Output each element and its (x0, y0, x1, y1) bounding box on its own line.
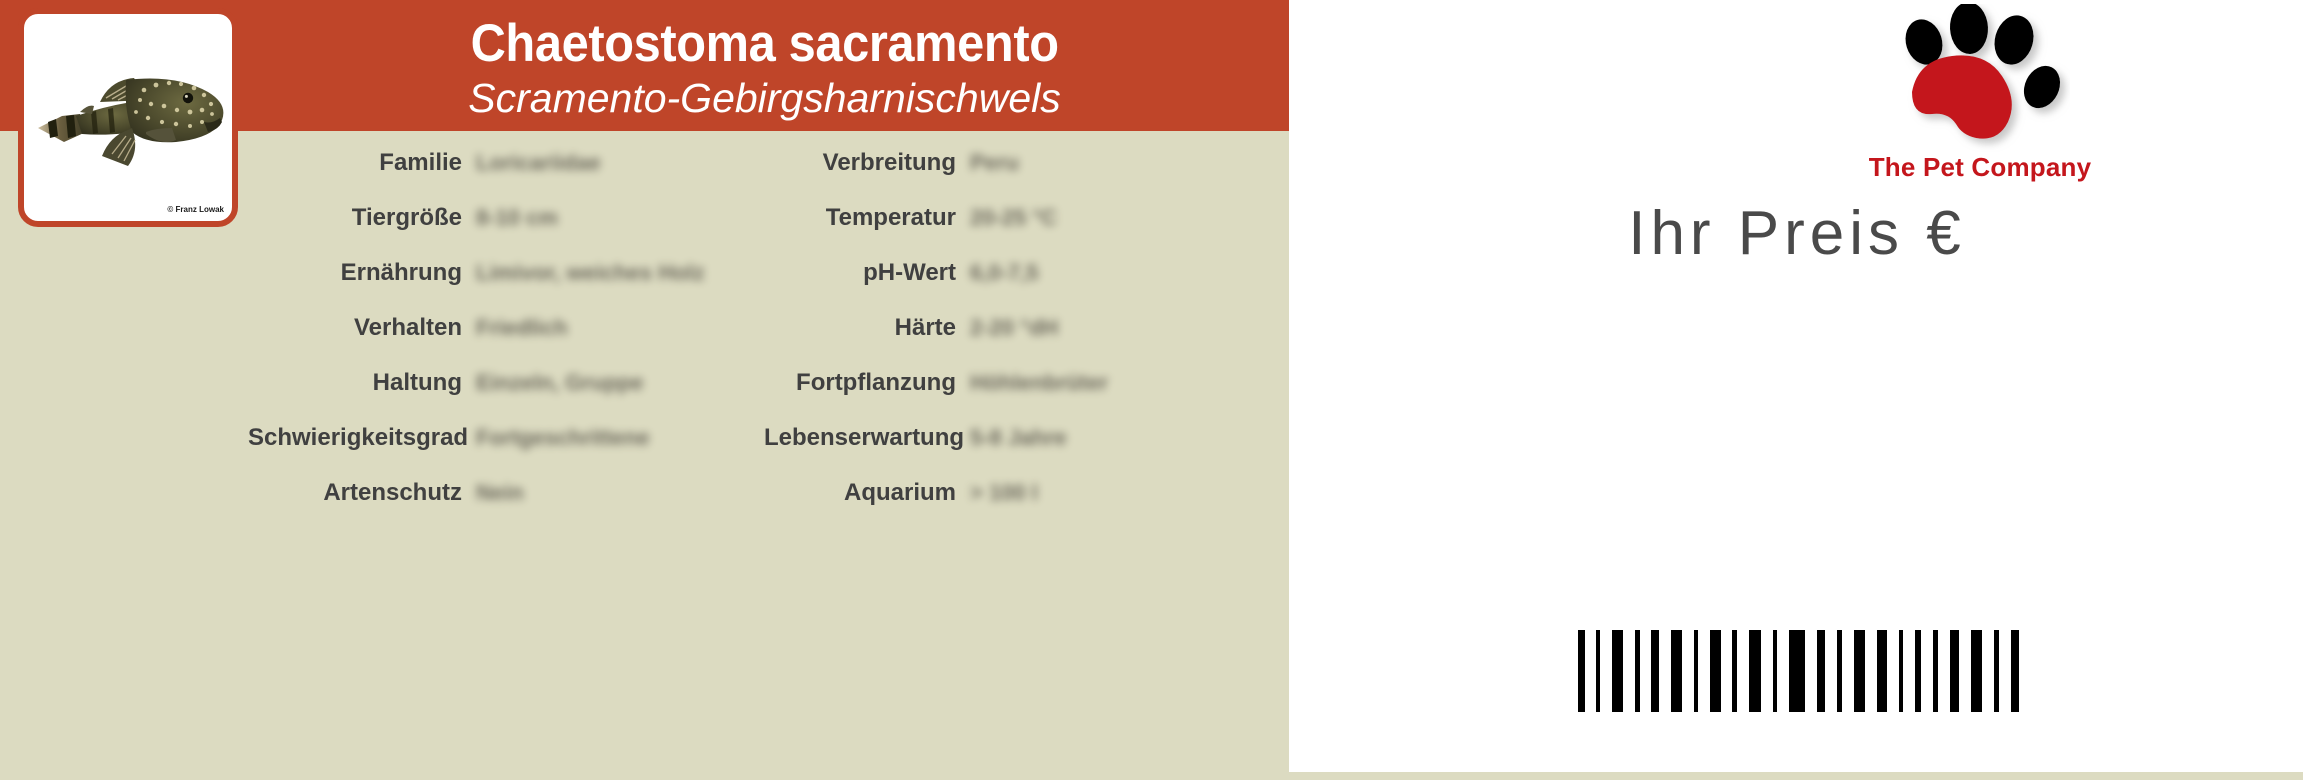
fact-row: FortpflanzungHöhlenbrüter (764, 369, 1289, 397)
fact-value: Loricariidae (476, 150, 601, 176)
fact-row: SchwierigkeitsgradFortgeschrittene (248, 424, 764, 452)
barcode-gap (1765, 630, 1769, 712)
barcode-bar (1817, 630, 1825, 712)
barcode-bar (1635, 630, 1640, 712)
barcode-bar (1710, 630, 1721, 712)
fact-label: Fortpflanzung (764, 369, 970, 397)
fact-label: Temperatur (764, 204, 970, 232)
price-label: Ihr Preis € (1317, 198, 2277, 269)
fact-value: Peru (970, 150, 1019, 176)
fact-row: FamilieLoricariidae (248, 149, 764, 177)
barcode-gap (1809, 630, 1813, 712)
barcode-gap (1627, 630, 1631, 712)
fact-row: Aquarium> 100 l (764, 479, 1289, 507)
fact-label: Verhalten (248, 314, 476, 342)
fact-label: Verbreitung (764, 149, 970, 177)
fact-row: Härte2-20 °dH (764, 314, 1289, 342)
fact-row: VerhaltenFriedlich (248, 314, 764, 342)
paw-print-icon (1890, 4, 2070, 152)
barcode-gap (1986, 630, 1990, 712)
barcode-bar (1612, 630, 1623, 712)
fact-label: Härte (764, 314, 970, 342)
species-facts-table: FamilieLoricariidaeTiergröße8-10 cmErnäh… (248, 131, 1289, 780)
barcode-bar (1789, 630, 1805, 712)
barcode-gap (1829, 630, 1833, 712)
fact-label: Haltung (248, 369, 476, 397)
bottom-accent-strip (1289, 772, 2303, 780)
barcode-bar (1671, 630, 1682, 712)
barcode-bar (1578, 630, 1585, 712)
barcode-gap (1644, 630, 1647, 712)
fact-label: Artenschutz (248, 479, 476, 507)
fact-value: 5-8 Jahre (970, 425, 1067, 451)
species-common-name: Scramento-Gebirgsharnischwels (468, 75, 1060, 121)
barcode-gap (1963, 630, 1967, 712)
fact-row: pH-Wert6,0-7,5 (764, 259, 1289, 287)
fact-row: ErnährungLimivor, weiches Holz (248, 259, 764, 287)
barcode-gap (1741, 630, 1745, 712)
fact-value: 20-25 °C (970, 205, 1057, 231)
brand-name: The Pet Company (1850, 152, 2110, 183)
fact-row: VerbreitungPeru (764, 149, 1289, 177)
barcode (1297, 630, 2303, 720)
fact-label: Aquarium (764, 479, 970, 507)
barcode-gap (1781, 630, 1785, 712)
barcode-bar (1732, 630, 1737, 712)
fact-value: 2-20 °dH (970, 315, 1058, 341)
barcode-bar (1694, 630, 1698, 712)
barcode-bar (1596, 630, 1600, 712)
fact-value: Einzeln, Gruppe (476, 370, 643, 396)
barcode-gap (1846, 630, 1850, 712)
fact-value: Höhlenbrüter (970, 370, 1108, 396)
barcode-gap (1702, 630, 1706, 712)
fact-row: ArtenschutzNein (248, 479, 764, 507)
fact-label: Ernährung (248, 259, 476, 287)
fact-label: pH-Wert (764, 259, 970, 287)
fish-photo (36, 66, 232, 176)
panel-divider (1289, 0, 1297, 780)
fact-row: HaltungEinzeln, Gruppe (248, 369, 764, 397)
barcode-gap (1604, 630, 1608, 712)
barcode-gap (1663, 630, 1667, 712)
barcode-gap (1942, 630, 1946, 712)
barcode-gap (1725, 630, 1728, 712)
fact-row: Temperatur20-25 °C (764, 204, 1289, 232)
fact-value: Nein (476, 480, 524, 506)
barcode-bar (1994, 630, 1999, 712)
barcode-gap (1907, 630, 1911, 712)
fact-value: 8-10 cm (476, 205, 558, 231)
header-text-block: Chaetostoma sacramento Scramento-Gebirgs… (240, 0, 1289, 131)
barcode-bar (2011, 630, 2019, 712)
fact-label: Familie (248, 149, 476, 177)
barcode-gap (1589, 630, 1592, 712)
fact-value: 6,0-7,5 (970, 260, 1039, 286)
fact-label: Lebenserwartung (764, 424, 970, 452)
barcode-bar (1837, 630, 1842, 712)
fact-row: Tiergröße8-10 cm (248, 204, 764, 232)
brand-logo: The Pet Company (1850, 4, 2110, 194)
facts-column-left: FamilieLoricariidaeTiergröße8-10 cmErnäh… (248, 131, 764, 780)
barcode-gap (1869, 630, 1873, 712)
barcode-gap (1925, 630, 1929, 712)
barcode-bar (1651, 630, 1659, 712)
page-title: Chaetostoma sacramento (470, 15, 1058, 73)
fact-label: Schwierigkeitsgrad (248, 424, 476, 452)
barcode-bar (1971, 630, 1982, 712)
fact-label: Tiergröße (248, 204, 476, 232)
barcode-bar (1749, 630, 1761, 712)
barcode-bar (1773, 630, 1777, 712)
species-info-panel: Chaetostoma sacramento Scramento-Gebirgs… (0, 0, 1289, 780)
fact-value: Fortgeschrittene (476, 425, 650, 451)
fact-value: Limivor, weiches Holz (476, 260, 705, 286)
barcode-bar (1933, 630, 1938, 712)
barcode-bar (1950, 630, 1959, 712)
fact-value: Friedlich (476, 315, 568, 341)
barcode-gap (1891, 630, 1895, 712)
barcode-bar (1915, 630, 1921, 712)
barcode-bar (1877, 630, 1887, 712)
barcode-bar (1899, 630, 1903, 712)
facts-column-right: VerbreitungPeruTemperatur20-25 °CpH-Wert… (764, 131, 1289, 780)
species-photo-card: © Franz Lowak (18, 8, 238, 227)
pet-shop-species-label: Chaetostoma sacramento Scramento-Gebirgs… (0, 0, 2303, 780)
fact-value: > 100 l (970, 480, 1038, 506)
barcode-gap (1686, 630, 1690, 712)
fact-row: Lebenserwartung5-8 Jahre (764, 424, 1289, 452)
barcode-gap (2003, 630, 2007, 712)
price-panel: The Pet Company Ihr Preis € (1297, 0, 2303, 780)
barcode-bar (1854, 630, 1865, 712)
photo-credit: © Franz Lowak (167, 205, 224, 214)
